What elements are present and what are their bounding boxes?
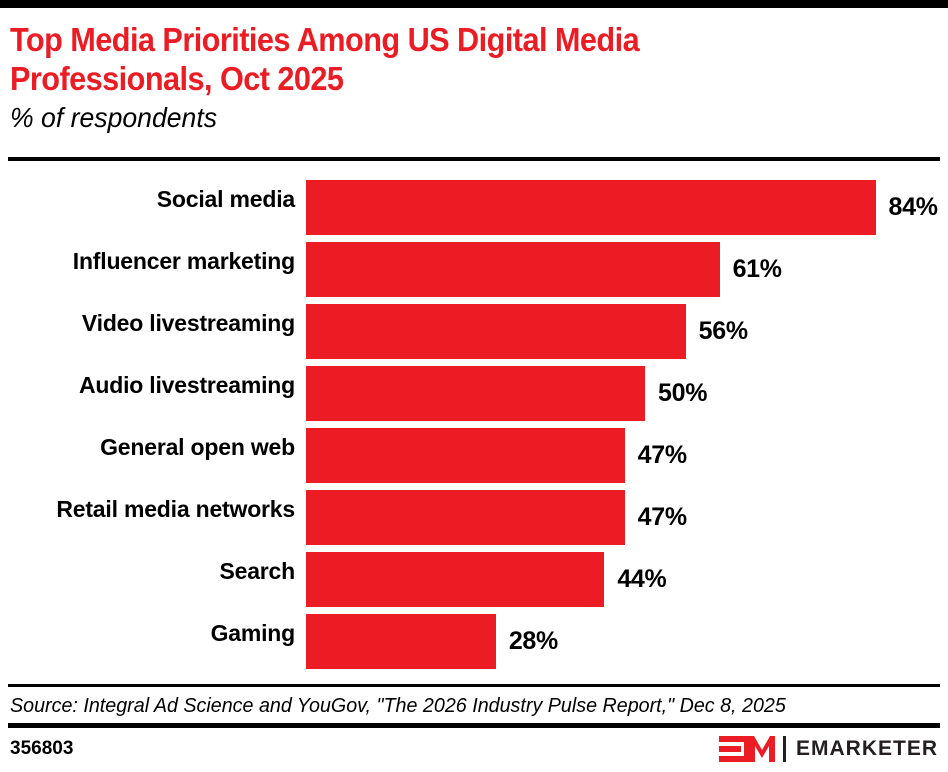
bar-value-label: 28%: [509, 614, 558, 669]
logo-divider: [783, 736, 786, 762]
bar-category-label: Influencer marketing: [73, 234, 295, 289]
chart-id: 356803: [10, 738, 73, 760]
bar-fill: [306, 614, 496, 669]
bar-fill: [306, 242, 720, 297]
bar-fill: [306, 428, 625, 483]
top-rule-divider: [0, 0, 948, 8]
bar-value-label: 61%: [733, 242, 782, 297]
chart-subtitle: % of respondents: [10, 102, 884, 134]
emarketer-logo[interactable]: EMARKETER: [719, 734, 938, 764]
bar-row: Video livestreaming56%: [0, 296, 948, 358]
bar-category-label: Social media: [157, 172, 295, 227]
bar-track: 84%: [306, 180, 876, 235]
bar-track: 47%: [306, 490, 625, 545]
bar-fill: [306, 552, 604, 607]
bar-fill: [306, 180, 876, 235]
bar-track: 61%: [306, 242, 720, 297]
bar-value-label: 56%: [699, 304, 748, 359]
bar-fill: [306, 304, 686, 359]
chart-header: Top Media Priorities Among US Digital Me…: [10, 20, 930, 134]
bar-category-label: General open web: [100, 420, 295, 475]
chart-title: Top Media Priorities Among US Digital Me…: [10, 20, 866, 98]
bar-chart-plot-area: Social media84%Influencer marketing61%Vi…: [0, 172, 948, 674]
bar-track: 28%: [306, 614, 496, 669]
bar-category-label: Retail media networks: [56, 482, 295, 537]
bar-value-label: 47%: [638, 490, 687, 545]
bar-category-label: Gaming: [211, 606, 295, 661]
emarketer-chart-card: Top Media Priorities Among US Digital Me…: [0, 0, 948, 772]
bar-value-label: 47%: [638, 428, 687, 483]
source-note: Source: Integral Ad Science and YouGov, …: [10, 691, 926, 721]
bar-category-label: Video livestreaming: [82, 296, 295, 351]
bar-fill: [306, 366, 645, 421]
bar-row: Search44%: [0, 544, 948, 606]
bar-track: 56%: [306, 304, 686, 359]
bar-category-label: Search: [219, 544, 295, 599]
bar-row: Gaming28%: [0, 606, 948, 668]
bar-track: 47%: [306, 428, 625, 483]
bar-row: Audio livestreaming50%: [0, 358, 948, 420]
source-divider-top: [8, 684, 940, 687]
em-monogram-icon: [719, 735, 775, 763]
header-divider: [8, 157, 940, 161]
bar-value-label: 44%: [617, 552, 666, 607]
bar-value-label: 50%: [658, 366, 707, 421]
bar-row: Social media84%: [0, 172, 948, 234]
chart-footer: 356803 EMARKETER: [0, 728, 948, 772]
bar-row: Influencer marketing61%: [0, 234, 948, 296]
bar-row: General open web47%: [0, 420, 948, 482]
bar-track: 50%: [306, 366, 645, 421]
bar-row: Retail media networks47%: [0, 482, 948, 544]
bar-fill: [306, 490, 625, 545]
brand-wordmark: EMARKETER: [796, 736, 938, 762]
bar-category-label: Audio livestreaming: [79, 358, 295, 413]
bar-value-label: 84%: [889, 180, 938, 235]
bar-track: 44%: [306, 552, 604, 607]
